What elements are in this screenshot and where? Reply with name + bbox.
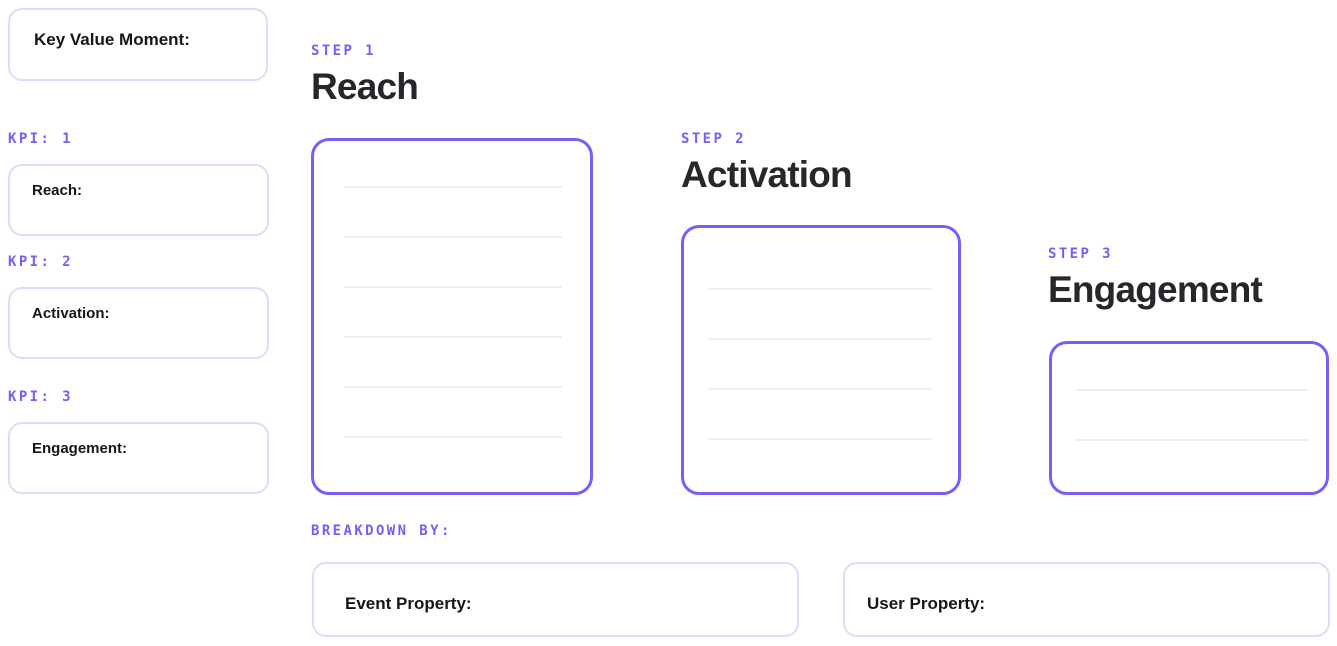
note-rule [708,288,932,290]
kpi-2-card[interactable]: Activation: [8,287,269,359]
step-1-title: Reach [311,66,418,108]
key-value-moment-card[interactable]: Key Value Moment: [8,8,268,81]
step-2-note-card[interactable] [681,225,961,495]
note-rule [708,438,932,440]
note-rule [344,186,562,188]
step-3-note-card[interactable] [1049,341,1329,495]
breakdown-by-eyebrow: BREAKDOWN BY: [311,523,452,539]
note-rule [344,286,562,288]
event-property-card[interactable]: Event Property: [312,562,799,637]
note-rule [344,236,562,238]
key-value-moment-label: Key Value Moment: [34,30,190,50]
kpi-3-eyebrow: KPI: 3 [8,389,73,405]
user-property-card[interactable]: User Property: [843,562,1330,637]
step-3-eyebrow: STEP 3 [1048,246,1113,262]
kpi-3-card[interactable]: Engagement: [8,422,269,494]
note-rule [344,386,562,388]
step-1-note-card[interactable] [311,138,593,495]
kpi-1-card[interactable]: Reach: [8,164,269,236]
step-3-title: Engagement [1048,269,1262,311]
note-rule [1076,389,1308,391]
step-2-title: Activation [681,154,852,196]
note-rule [344,436,562,438]
kpi-2-label: Activation: [32,305,110,322]
user-property-label: User Property: [867,594,985,614]
kpi-3-label: Engagement: [32,440,127,457]
event-property-label: Event Property: [345,594,472,614]
kpi-1-eyebrow: KPI: 1 [8,131,73,147]
kpi-1-label: Reach: [32,182,82,199]
note-rule [344,336,562,338]
step-2-eyebrow: STEP 2 [681,131,746,147]
kpi-2-eyebrow: KPI: 2 [8,254,73,270]
note-rule [708,388,932,390]
note-rule [1076,439,1308,441]
step-1-eyebrow: STEP 1 [311,43,376,59]
note-rule [708,338,932,340]
worksheet-canvas: Key Value Moment: KPI: 1 Reach: KPI: 2 A… [0,0,1337,646]
